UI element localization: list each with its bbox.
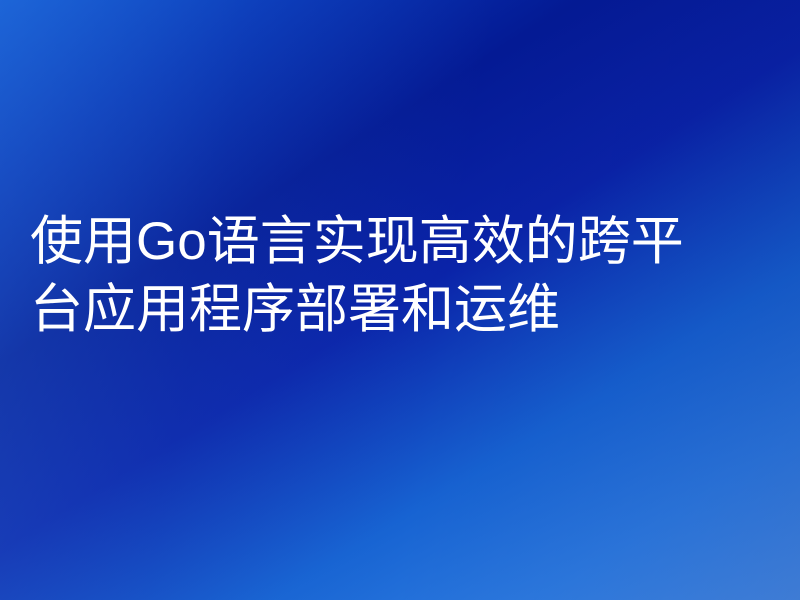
title-line-1: 使用Go语言实现高效的跨平 [30, 208, 782, 276]
title-line-2: 台应用程序部署和运维 [30, 276, 782, 344]
title-card: 使用Go语言实现高效的跨平 台应用程序部署和运维 [0, 0, 800, 600]
page-title: 使用Go语言实现高效的跨平 台应用程序部署和运维 [30, 208, 782, 344]
